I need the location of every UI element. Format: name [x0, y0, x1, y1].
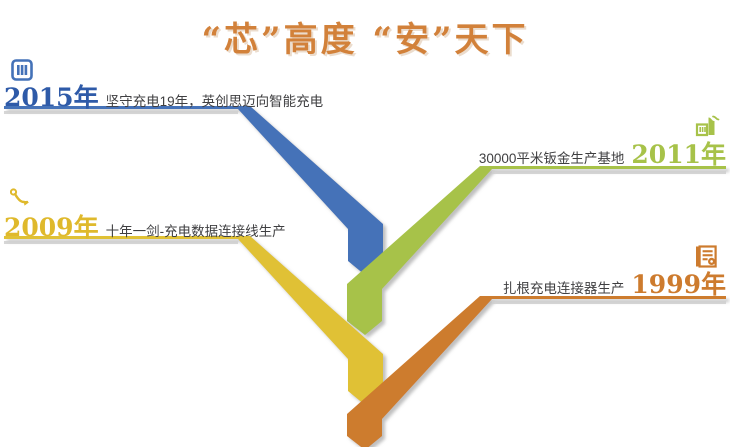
timeline-entry-1999[interactable]: 扎根充电连接器生产 1999年 [503, 245, 726, 297]
timeline-description-2015: 坚守充电19年，英创思迈向智能充电 [106, 95, 324, 109]
infographic-canvas: “芯”高度 “安”天下 [0, 0, 730, 447]
timeline-entry-2015[interactable]: 2015年 坚守充电19年，英创思迈向智能充电 [4, 58, 323, 110]
building-columns-icon [10, 58, 323, 84]
factory-icon [479, 115, 720, 141]
timeline-year-1999: 1999年 [631, 272, 726, 297]
timeline-description-2009: 十年一剑-充电数据连接线生产 [106, 225, 286, 239]
timeline-year-2011: 2011年 [631, 142, 726, 167]
timeline-year-2015: 2015年 [4, 85, 99, 110]
band-2009-gold [4, 236, 383, 405]
cable-curve-icon [10, 188, 286, 214]
document-gear-icon [503, 245, 720, 271]
timeline-entry-2009[interactable]: 2009年 十年一剑-充电数据连接线生产 [4, 188, 286, 240]
timeline-description-1999: 扎根充电连接器生产 [503, 282, 625, 296]
timeline-entry-2011[interactable]: 30000平米钣金生产基地 2011年 [479, 115, 726, 167]
band-1999-orange [347, 296, 726, 447]
timeline-description-2011: 30000平米钣金生产基地 [479, 152, 625, 166]
timeline-year-2009: 2009年 [4, 215, 99, 240]
